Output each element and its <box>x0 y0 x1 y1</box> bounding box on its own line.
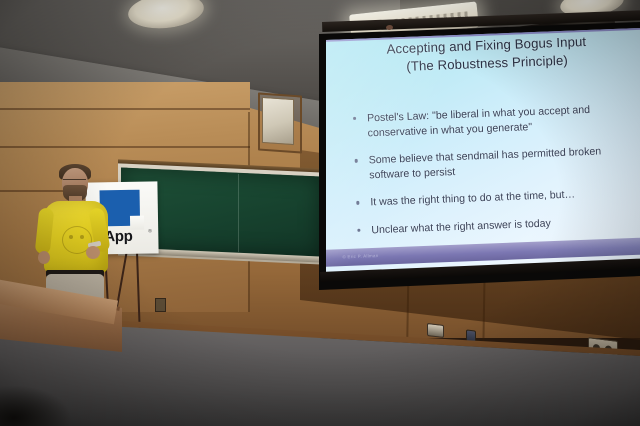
bullet-dot-icon <box>357 229 361 233</box>
bullet-dot-icon <box>356 201 360 205</box>
bullet-dot-icon <box>355 159 359 163</box>
slide-footer-copyright: © Eric P. Allman <box>342 253 378 259</box>
slide-bullet-text: It was the right thing to do at the time… <box>370 189 575 209</box>
bullet-dot-icon <box>353 117 357 121</box>
slide-bullet: It was the right thing to do at the time… <box>354 185 638 211</box>
slide-bullet: Some believe that sendmail has permitted… <box>352 143 637 183</box>
slide-bullet-text: Some believe that sendmail has permitted… <box>368 146 601 182</box>
trademark-icon: ® <box>148 228 152 234</box>
slide-bullet: Unclear what the right answer is today <box>355 213 639 239</box>
slide-bullet-text: Postel's Law: "be liberal in what you ac… <box>367 104 590 139</box>
presenter-hand-left <box>38 251 50 264</box>
light-switch[interactable] <box>427 323 444 338</box>
wall-plate <box>155 298 166 312</box>
slide-bullet-list: Postel's Law: "be liberal in what you ac… <box>351 101 640 251</box>
slide-title-line2: (The Robustness Principle) <box>341 49 633 78</box>
projection-screen: Accepting and Fixing Bogus Input (The Ro… <box>326 28 640 280</box>
slide-bullet-text: Unclear what the right answer is today <box>371 217 551 236</box>
foreground-shadow <box>0 386 70 426</box>
slide-title: Accepting and Fixing Bogus Input (The Ro… <box>340 31 633 78</box>
chalkboard-seam <box>238 174 239 252</box>
lecture-hall-photo: Accepting and Fixing Bogus Input (The Ro… <box>0 0 640 426</box>
wall-speaker <box>262 97 294 145</box>
slide-bullet: Postel's Law: "be liberal in what you ac… <box>351 101 636 141</box>
presenter-hand-right <box>86 246 100 259</box>
slide-content: Accepting and Fixing Bogus Input (The Ro… <box>326 28 640 280</box>
